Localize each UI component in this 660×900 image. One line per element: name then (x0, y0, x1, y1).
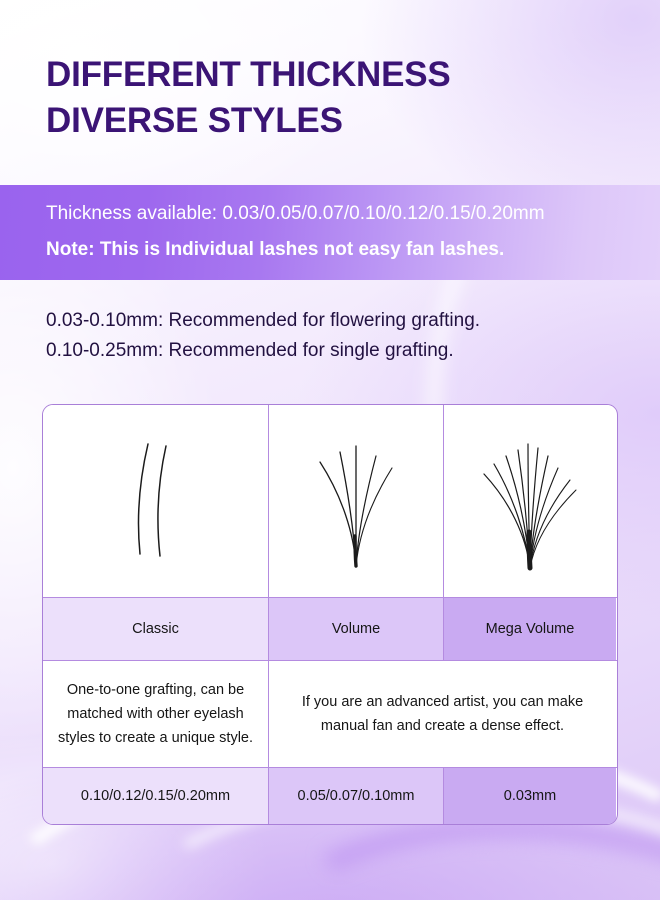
table-row-figures (43, 405, 617, 597)
style-name-volume: Volume (332, 621, 380, 637)
recommendation-flowering-grafting: 0.03-0.10mm: Recommended for flowering g… (46, 306, 646, 336)
thickness-classic: 0.10/0.12/0.15/0.20mm (81, 788, 230, 804)
page-content: DIFFERENT THICKNESS DIVERSE STYLES Thick… (0, 0, 660, 900)
style-name-cell-classic: Classic (43, 598, 269, 660)
thickness-available-text: Thickness available: 0.03/0.05/0.07/0.10… (46, 199, 640, 229)
lash-style-comparison-table: Classic Volume Mega Volume One-to-one gr… (42, 404, 618, 825)
page-title: DIFFERENT THICKNESS DIVERSE STYLES (46, 52, 626, 144)
thickness-cell-volume: 0.05/0.07/0.10mm (269, 768, 444, 824)
description-classic: One-to-one grafting, can be matched with… (57, 678, 254, 750)
individual-lashes-note: Note: This is Individual lashes not easy… (46, 235, 640, 265)
table-row-style-names: Classic Volume Mega Volume (43, 597, 617, 661)
thickness-volume: 0.05/0.07/0.10mm (298, 788, 415, 804)
style-name-mega-volume: Mega Volume (486, 621, 575, 637)
volume-fan-figure-icon (296, 426, 416, 576)
table-row-descriptions: One-to-one grafting, can be matched with… (43, 661, 617, 767)
style-name-cell-volume: Volume (269, 598, 444, 660)
mega-volume-fan-figure-icon (470, 426, 590, 576)
description-cell-classic: One-to-one grafting, can be matched with… (43, 661, 269, 767)
volume-figure-cell (269, 405, 444, 597)
thickness-cell-mega-volume: 0.03mm (444, 768, 616, 824)
thickness-banner-content: Thickness available: 0.03/0.05/0.07/0.10… (46, 199, 640, 265)
description-cell-volume-mega: If you are an advanced artist, you can m… (269, 661, 616, 767)
thickness-mega-volume: 0.03mm (504, 788, 556, 804)
classic-figure-cell (43, 405, 269, 597)
style-name-cell-mega-volume: Mega Volume (444, 598, 616, 660)
thickness-cell-classic: 0.10/0.12/0.15/0.20mm (43, 768, 269, 824)
table-row-thickness: 0.10/0.12/0.15/0.20mm 0.05/0.07/0.10mm 0… (43, 767, 617, 824)
page-title-line-1: DIFFERENT THICKNESS (46, 52, 626, 98)
classic-lash-figure-icon (96, 426, 216, 576)
page-title-line-2: DIVERSE STYLES (46, 98, 626, 144)
style-name-classic: Classic (132, 621, 179, 637)
promo-page: DIFFERENT THICKNESS DIVERSE STYLES Thick… (0, 0, 660, 900)
description-volume-mega: If you are an advanced artist, you can m… (283, 690, 602, 738)
recommendation-list: 0.03-0.10mm: Recommended for flowering g… (46, 306, 646, 366)
thickness-banner: Thickness available: 0.03/0.05/0.07/0.10… (0, 185, 660, 280)
recommendation-single-grafting: 0.10-0.25mm: Recommended for single graf… (46, 336, 646, 366)
mega-volume-figure-cell (444, 405, 616, 597)
